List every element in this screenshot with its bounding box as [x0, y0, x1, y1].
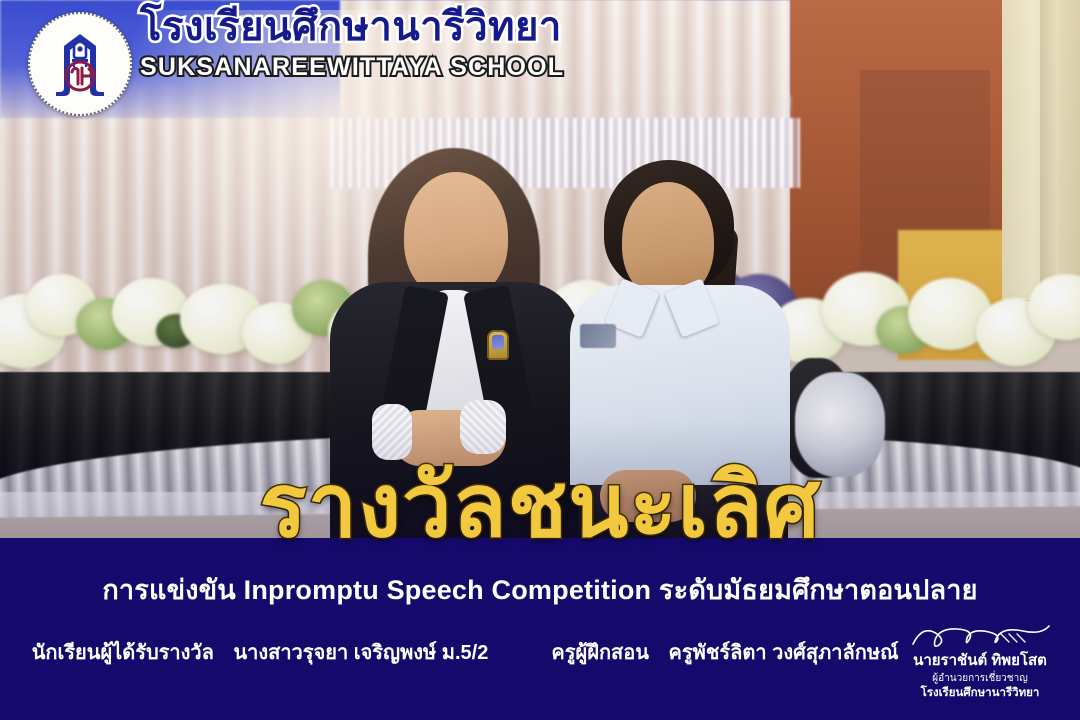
director-signature-block: นายราชันต์ ทิพยโสต ผู้อำนวยการเชี่ยวชาญ … [888, 620, 1072, 700]
award-announcement-graphic: โรงเรียนศึกษานารีวิทยา SUKSANAREEWITTAYA… [0, 0, 1080, 720]
school-name-english: SUKSANAREEWITTAYA SCHOOL [140, 54, 564, 82]
teacher-face [404, 172, 508, 300]
director-school: โรงเรียนศึกษานารีวิทยา [888, 686, 1072, 701]
student-credit: นักเรียนผู้ได้รับรางวัล นางสาวรุจยา เจริ… [0, 636, 520, 668]
award-title: รางวัลชนะเลิศ [0, 462, 1080, 550]
teacher-lace-cuff-left [372, 404, 412, 460]
credits-row: นักเรียนผู้ได้รับรางวัล นางสาวรุจยา เจริ… [0, 636, 930, 668]
teacher-credit-label: ครูผู้ฝึกสอน [551, 642, 649, 664]
student-credit-name: นางสาวรุจยา เจริญพงษ์ ม.5/2 [233, 642, 488, 664]
student-credit-label: นักเรียนผู้ได้รับรางวัล [32, 642, 214, 664]
school-name-thai: โรงเรียนศึกษานารีวิทยา [140, 6, 564, 48]
signature-scribble-icon [888, 620, 1072, 650]
teacher-credit: ครูผู้ฝึกสอน ครูพัชร์ลิตา วงศ์สุภาลักษณ์ [520, 636, 930, 668]
award-subtitle: การแข่งขัน Inpromptu Speech Competition … [0, 568, 1080, 611]
teacher-credit-name: ครูพัชร์ลิตา วงศ์สุภาลักษณ์ [669, 642, 899, 664]
director-role: ผู้อำนวยการเชี่ยวชาญ [888, 672, 1072, 686]
header-text-group: โรงเรียนศึกษานารีวิทยา SUKSANAREEWITTAYA… [140, 6, 564, 82]
director-name: นายราชันต์ ทิพยโสต [888, 652, 1072, 670]
school-crest-icon [28, 12, 132, 116]
teacher-school-pin [487, 330, 509, 360]
header-bar: โรงเรียนศึกษานารีวิทยา SUKSANAREEWITTAYA… [0, 0, 1080, 120]
student-uniform-emblem [580, 324, 616, 348]
teacher-lace-cuff-right [460, 400, 506, 454]
